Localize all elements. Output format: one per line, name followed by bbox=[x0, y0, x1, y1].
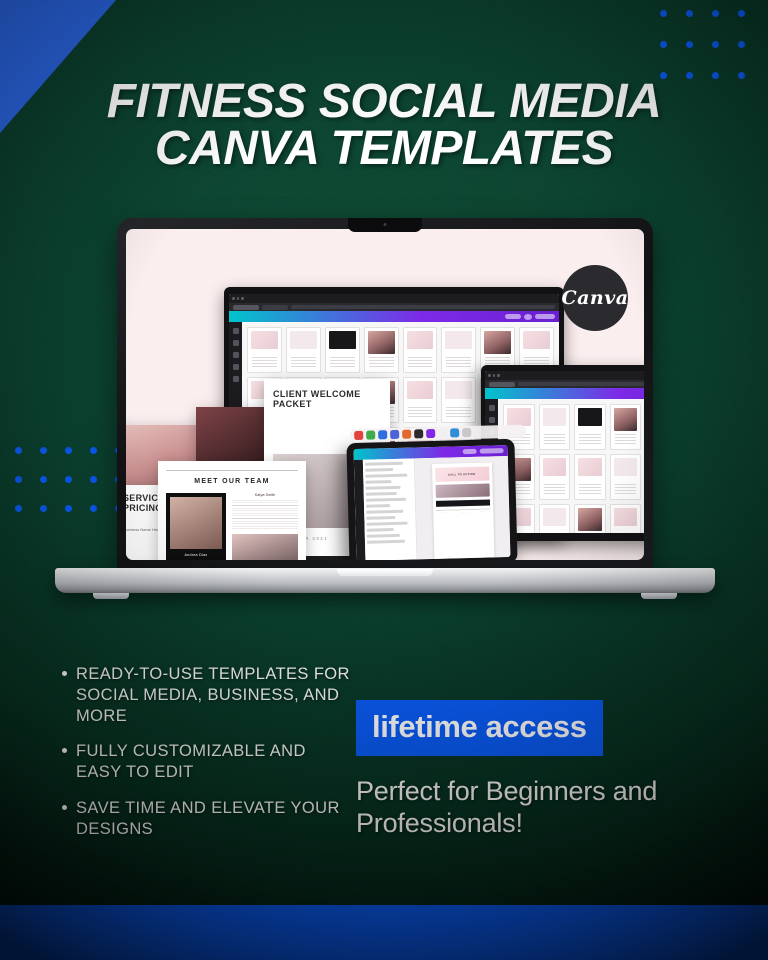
template-thumbnail[interactable] bbox=[574, 454, 606, 500]
panel-row bbox=[366, 486, 401, 489]
decor-dot bbox=[686, 41, 693, 48]
page-title: FITNESS SOCIAL MEDIA CANVA TEMPLATES bbox=[0, 78, 768, 172]
divider bbox=[166, 470, 298, 471]
bullet-icon bbox=[62, 671, 67, 676]
laptop-foot-left bbox=[93, 593, 129, 599]
template-thumbnail[interactable] bbox=[247, 327, 282, 373]
template-thumbnail[interactable] bbox=[403, 377, 438, 423]
list-item-label: FULLY CUSTOMIZABLE AND EASY TO EDIT bbox=[76, 741, 352, 783]
tablet-mockup: CALL TO ACTION bbox=[346, 439, 517, 560]
flyer-meet-our-team: MEET OUR TEAM Andrea Diaz Katya Smith bbox=[158, 461, 306, 560]
panel-row bbox=[365, 474, 407, 478]
list-item-label: READY-TO-USE TEMPLATES FOR SOCIAL MEDIA,… bbox=[76, 664, 352, 726]
dock-app-icon bbox=[402, 430, 411, 439]
decor-dot bbox=[40, 447, 47, 454]
address-bar bbox=[518, 382, 644, 386]
templates-icon bbox=[233, 340, 239, 346]
maximize-icon bbox=[497, 374, 500, 377]
decor-dot bbox=[40, 505, 47, 512]
title-line-2: CANVA TEMPLATES bbox=[60, 125, 708, 172]
address-bar bbox=[291, 305, 555, 309]
template-thumbnail[interactable] bbox=[539, 504, 571, 533]
title-line-1: FITNESS SOCIAL MEDIA bbox=[60, 78, 708, 125]
template-thumbnail[interactable] bbox=[574, 504, 606, 533]
editor-document: CALL TO ACTION bbox=[431, 462, 493, 559]
panel-row bbox=[366, 498, 406, 502]
projects-icon bbox=[233, 352, 239, 358]
status-badge: lifetime access bbox=[356, 700, 603, 756]
dock-app-icon bbox=[414, 429, 423, 438]
panel-row bbox=[365, 480, 391, 483]
team-member-name: Andrea Diaz bbox=[170, 553, 222, 557]
laptop-mockup: Canva bbox=[55, 218, 715, 618]
share-button bbox=[480, 448, 504, 454]
dock-app-icon bbox=[378, 430, 387, 439]
template-grid bbox=[498, 399, 644, 533]
list-item-label: SAVE TIME AND ELEVATE YOUR DESIGNS bbox=[76, 798, 352, 840]
document-heading: CALL TO ACTION bbox=[435, 467, 489, 482]
bullet-icon bbox=[62, 805, 67, 810]
decor-dot bbox=[738, 41, 745, 48]
canva-editor: CALL TO ACTION bbox=[354, 456, 511, 560]
toolbar-pill bbox=[505, 314, 521, 319]
panel-row bbox=[366, 504, 390, 507]
maximize-icon bbox=[241, 297, 244, 300]
template-thumbnail[interactable] bbox=[574, 404, 606, 450]
laptop-screen: Canva bbox=[126, 229, 644, 560]
browser-tabbar bbox=[229, 303, 559, 311]
apps-icon bbox=[233, 376, 239, 382]
create-design-button bbox=[535, 314, 555, 319]
avatar bbox=[524, 314, 532, 320]
team-photo bbox=[232, 534, 298, 560]
browser-tabbar bbox=[485, 380, 644, 388]
decor-dot bbox=[712, 10, 719, 17]
team-card-dark: Andrea Diaz bbox=[166, 493, 226, 560]
browser-tab bbox=[233, 305, 259, 310]
flyer-team-heading: MEET OUR TEAM bbox=[166, 478, 298, 485]
document-heading-text: CALL TO ACTION bbox=[448, 472, 475, 476]
canva-logo-text: Canva bbox=[561, 287, 628, 309]
dock-app-icon bbox=[438, 429, 447, 438]
dock-app-icon bbox=[354, 431, 363, 440]
list-item: READY-TO-USE TEMPLATES FOR SOCIAL MEDIA,… bbox=[62, 664, 352, 726]
template-thumbnail[interactable] bbox=[610, 504, 642, 533]
canva-topbar bbox=[229, 311, 559, 322]
template-thumbnail[interactable] bbox=[364, 327, 399, 373]
canva-logo-badge: Canva bbox=[562, 265, 628, 331]
dock-app-icon bbox=[390, 430, 399, 439]
close-icon bbox=[232, 297, 235, 300]
laptop-foot-right bbox=[641, 593, 677, 599]
panel-row bbox=[367, 540, 405, 543]
template-thumbnail[interactable] bbox=[610, 404, 642, 450]
document-body-text bbox=[436, 508, 490, 512]
list-item: FULLY CUSTOMIZABLE AND EASY TO EDIT bbox=[62, 741, 352, 783]
laptop-base bbox=[55, 568, 715, 593]
decor-dot bbox=[660, 41, 667, 48]
template-thumbnail[interactable] bbox=[441, 377, 476, 423]
feature-list: READY-TO-USE TEMPLATES FOR SOCIAL MEDIA,… bbox=[62, 664, 352, 854]
template-thumbnail[interactable] bbox=[403, 327, 438, 373]
panel-row bbox=[366, 510, 403, 513]
laptop-base-notch bbox=[337, 569, 433, 576]
panel-row bbox=[365, 468, 393, 471]
bottom-accent-bar bbox=[0, 905, 768, 960]
team-photo bbox=[170, 497, 222, 549]
poster-canvas: FITNESS SOCIAL MEDIA CANVA TEMPLATES Can… bbox=[0, 0, 768, 960]
canva-topbar bbox=[485, 388, 644, 399]
decor-dot bbox=[15, 505, 22, 512]
template-thumbnail[interactable] bbox=[610, 454, 642, 500]
promo-subtitle: Perfect for Beginners and Professionals! bbox=[356, 776, 716, 840]
tablet-screen: CALL TO ACTION bbox=[354, 445, 511, 560]
minimize-icon bbox=[493, 374, 496, 377]
document-cta-button bbox=[435, 499, 489, 506]
template-thumbnail[interactable] bbox=[441, 327, 476, 373]
window-titlebar bbox=[485, 371, 644, 380]
decor-dot bbox=[738, 10, 745, 17]
browser-tab bbox=[489, 382, 515, 387]
team-member-name: Katya Smith bbox=[232, 493, 298, 497]
team-member-bio bbox=[232, 500, 298, 530]
template-thumbnail[interactable] bbox=[539, 404, 571, 450]
brand-icon bbox=[233, 364, 239, 370]
panel-row bbox=[367, 528, 394, 531]
promo-block: lifetime access Perfect for Beginners an… bbox=[356, 700, 716, 840]
browser-tab bbox=[262, 305, 288, 310]
canva-app-icon bbox=[426, 429, 435, 438]
camera-icon bbox=[384, 223, 387, 226]
dock-app-icon bbox=[366, 430, 375, 439]
decor-dot bbox=[686, 10, 693, 17]
panel-row bbox=[366, 492, 397, 495]
decor-dot bbox=[15, 447, 22, 454]
home-icon bbox=[489, 405, 495, 411]
template-thumbnail[interactable] bbox=[539, 454, 571, 500]
template-thumbnail[interactable] bbox=[325, 327, 360, 373]
window-titlebar bbox=[229, 294, 559, 303]
decor-dot bbox=[15, 476, 22, 483]
templates-icon bbox=[489, 417, 495, 423]
panel-row bbox=[367, 534, 400, 537]
decor-dot bbox=[40, 476, 47, 483]
laptop-lid: Canva bbox=[117, 218, 653, 570]
panel-row bbox=[366, 522, 407, 526]
editor-canvas: CALL TO ACTION bbox=[415, 456, 511, 559]
minimize-icon bbox=[237, 297, 240, 300]
flyer-team-columns: Andrea Diaz Katya Smith bbox=[166, 493, 298, 560]
bullet-icon bbox=[62, 748, 67, 753]
template-thumbnail[interactable] bbox=[286, 327, 321, 373]
document-image bbox=[435, 484, 489, 498]
panel-row bbox=[365, 462, 403, 465]
close-icon bbox=[488, 374, 491, 377]
decor-dot bbox=[712, 41, 719, 48]
dock-app-icon bbox=[462, 428, 471, 437]
team-card-light: Katya Smith bbox=[232, 493, 298, 560]
decor-dot bbox=[660, 10, 667, 17]
dock-app-icon bbox=[450, 428, 459, 437]
editor-side-panel bbox=[363, 458, 418, 560]
toolbar-pill bbox=[463, 449, 477, 454]
list-item: SAVE TIME AND ELEVATE YOUR DESIGNS bbox=[62, 798, 352, 840]
home-icon bbox=[233, 328, 239, 334]
flyer-client-title: CLIENT WELCOME PACKET bbox=[273, 389, 381, 410]
panel-row bbox=[366, 516, 395, 519]
